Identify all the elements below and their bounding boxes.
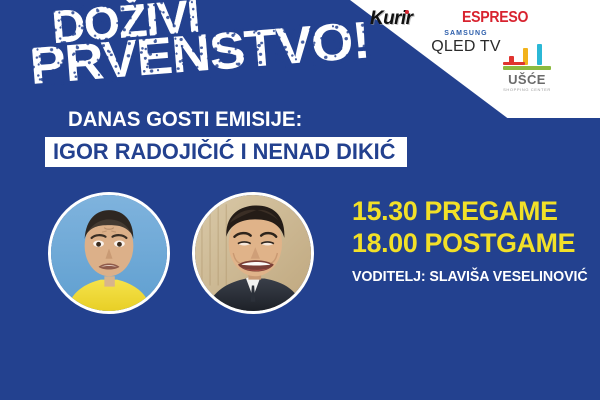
usce-underline-red xyxy=(503,62,525,65)
guest-names-banner: IGOR RADOJIČIĆ I NENAD DIKIĆ xyxy=(45,137,407,167)
schedule-block: 15.30 PREGAME 18.00 POSTGAME VODITELJ: S… xyxy=(352,196,600,285)
usce-underline-green xyxy=(503,66,551,70)
guest-label: DANAS GOSTI EMISIJE: xyxy=(68,108,302,132)
usce-bar-cyan xyxy=(537,44,542,65)
usce-wordmark: UŠĆE xyxy=(496,73,558,86)
espreso-logo: ESPRESO xyxy=(462,9,528,27)
sponsor-logo-bar: Kurir ESPRESO SAMSUNG QLED TV UŠĆE SHOPP… xyxy=(350,0,600,120)
usce-tagline: SHOPPING CENTER xyxy=(496,87,558,92)
usce-bars-icon xyxy=(499,48,555,72)
guest-photo-2 xyxy=(192,192,314,314)
guest-photo-1 xyxy=(48,192,170,314)
host-line: VODITELJ: SLAVIŠA VESELINOVIĆ xyxy=(352,268,588,285)
usce-shopping-center-logo: UŠĆE SHOPPING CENTER xyxy=(496,48,558,92)
guest-photo-1-image xyxy=(51,195,167,311)
kurir-logo: Kurir xyxy=(370,8,412,30)
guest-names-text: IGOR RADOJIČIĆ I NENAD DIKIĆ xyxy=(53,140,395,163)
samsung-wordmark: SAMSUNG xyxy=(424,30,508,37)
guest-photo-2-image xyxy=(195,195,311,311)
pregame-time: 15.30 PREGAME xyxy=(352,196,598,228)
postgame-time: 18.00 POSTGAME xyxy=(352,228,598,260)
promo-poster: Kurir ESPRESO SAMSUNG QLED TV UŠĆE SHOPP… xyxy=(0,0,600,400)
